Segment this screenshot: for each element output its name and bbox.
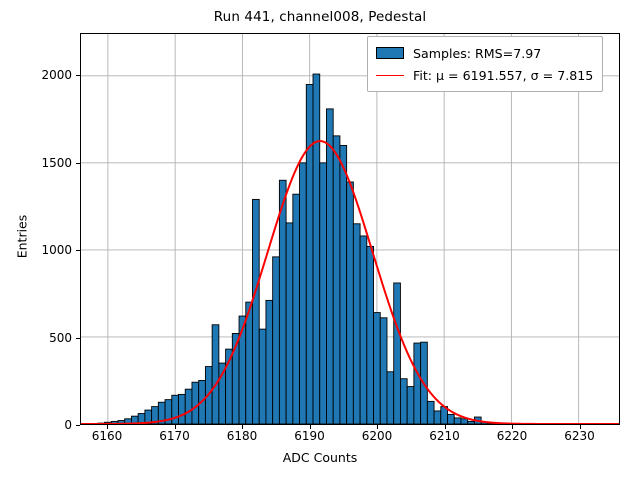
legend-swatch-samples	[376, 47, 404, 59]
x-axis-label: ADC Counts	[0, 450, 640, 465]
y-tick-mark-1	[76, 338, 80, 339]
x-tick-label-6: 6220	[497, 429, 528, 443]
x-tick-mark-2	[242, 425, 243, 429]
gaussian-fit-curve	[81, 34, 619, 424]
y-tick-label-3: 1500	[41, 156, 72, 170]
x-tick-mark-0	[107, 425, 108, 429]
x-tick-label-7: 6230	[564, 429, 595, 443]
x-tick-mark-3	[310, 425, 311, 429]
y-tick-label-4: 2000	[41, 68, 72, 82]
y-tick-mark-2	[76, 250, 80, 251]
y-tick-mark-0	[76, 425, 80, 426]
x-tick-mark-1	[175, 425, 176, 429]
y-tick-mark-3	[76, 163, 80, 164]
x-tick-label-5: 6210	[429, 429, 460, 443]
x-tick-label-1: 6170	[159, 429, 190, 443]
legend: Samples: RMS=7.97 Fit: μ = 6191.557, σ =…	[367, 36, 603, 92]
x-tick-mark-7	[580, 425, 581, 429]
y-tick-label-0: 0	[64, 418, 72, 432]
legend-item-fit: Fit: μ = 6191.557, σ = 7.815	[376, 64, 593, 86]
x-tick-mark-4	[377, 425, 378, 429]
x-tick-label-2: 6180	[227, 429, 258, 443]
x-tick-label-0: 6160	[92, 429, 123, 443]
legend-label-fit: Fit: μ = 6191.557, σ = 7.815	[413, 68, 593, 83]
y-tick-mark-4	[76, 75, 80, 76]
x-tick-mark-5	[445, 425, 446, 429]
legend-label-samples: Samples: RMS=7.97	[413, 46, 541, 61]
x-tick-mark-6	[512, 425, 513, 429]
y-tick-label-1: 500	[49, 331, 72, 345]
legend-swatch-fit	[376, 75, 404, 76]
y-tick-label-2: 1000	[41, 243, 72, 257]
chart-title: Run 441, channel008, Pedestal	[0, 9, 640, 25]
x-tick-label-3: 6190	[294, 429, 325, 443]
y-axis-label: Entries	[15, 137, 30, 337]
legend-item-samples: Samples: RMS=7.97	[376, 42, 593, 64]
figure-canvas: Run 441, channel008, Pedestal 6160617061…	[0, 0, 640, 480]
x-tick-label-4: 6200	[362, 429, 393, 443]
